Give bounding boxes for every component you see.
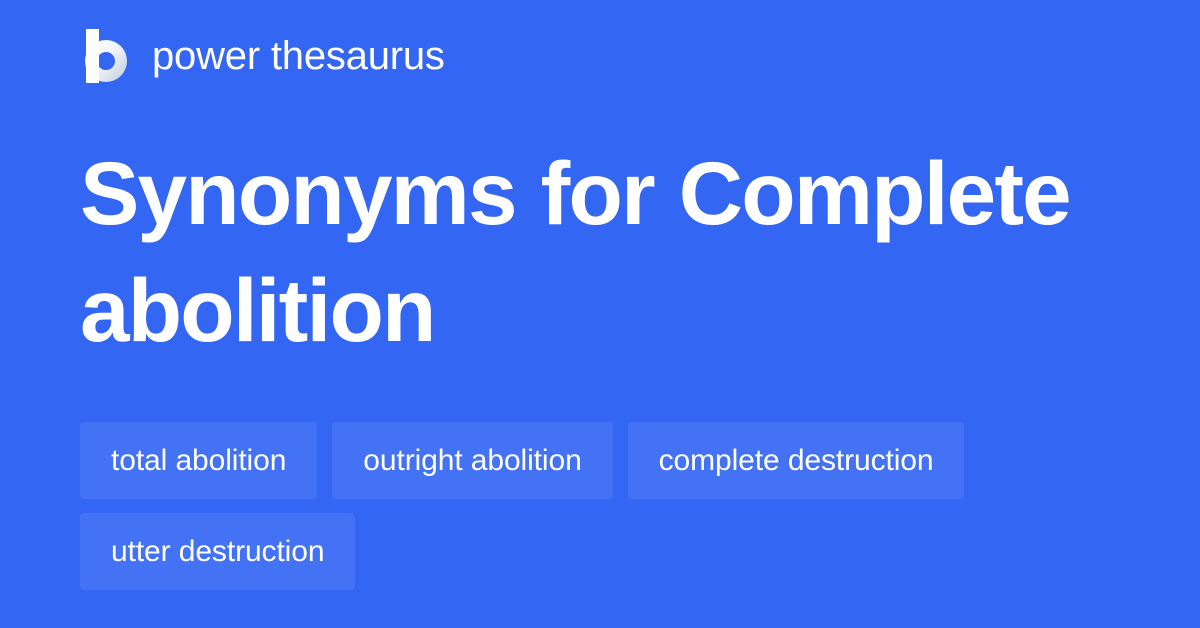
page-title: Synonyms for Complete abolition <box>80 135 1080 369</box>
synonym-chip[interactable]: complete destruction <box>628 422 965 499</box>
share-card: power thesaurus Synonyms for Complete ab… <box>0 0 1200 628</box>
synonym-chip[interactable]: total abolition <box>80 422 317 499</box>
power-thesaurus-b-logo-icon <box>80 29 128 83</box>
brand-header[interactable]: power thesaurus <box>80 26 445 86</box>
synonym-chip[interactable]: outright abolition <box>332 422 612 499</box>
brand-name: power thesaurus <box>152 33 445 79</box>
synonym-chip-list: total abolition outright abolition compl… <box>80 422 1120 590</box>
synonym-chip[interactable]: utter destruction <box>80 513 355 590</box>
